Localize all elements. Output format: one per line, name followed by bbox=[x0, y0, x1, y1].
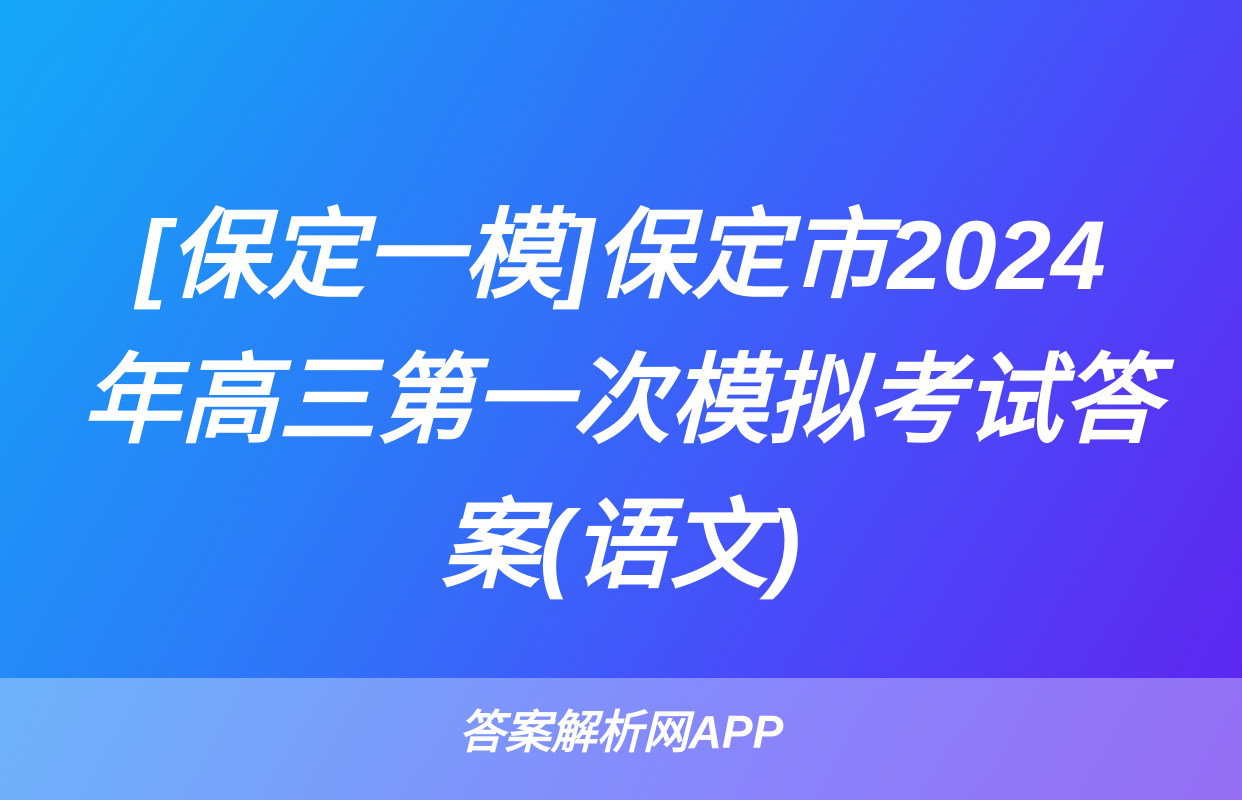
title-line-2: 年高三第一次模拟考试答 bbox=[78, 328, 1164, 473]
cover-canvas: [保定一模]保定市2024 年高三第一次模拟考试答 案(语文) 答案解析网APP bbox=[0, 0, 1242, 800]
title-line-3: 案(语文) bbox=[78, 473, 1164, 618]
app-watermark: 答案解析网APP bbox=[0, 704, 1242, 760]
title-line-1: [保定一模]保定市2024 bbox=[78, 183, 1164, 328]
page-title: [保定一模]保定市2024 年高三第一次模拟考试答 案(语文) bbox=[0, 183, 1242, 618]
